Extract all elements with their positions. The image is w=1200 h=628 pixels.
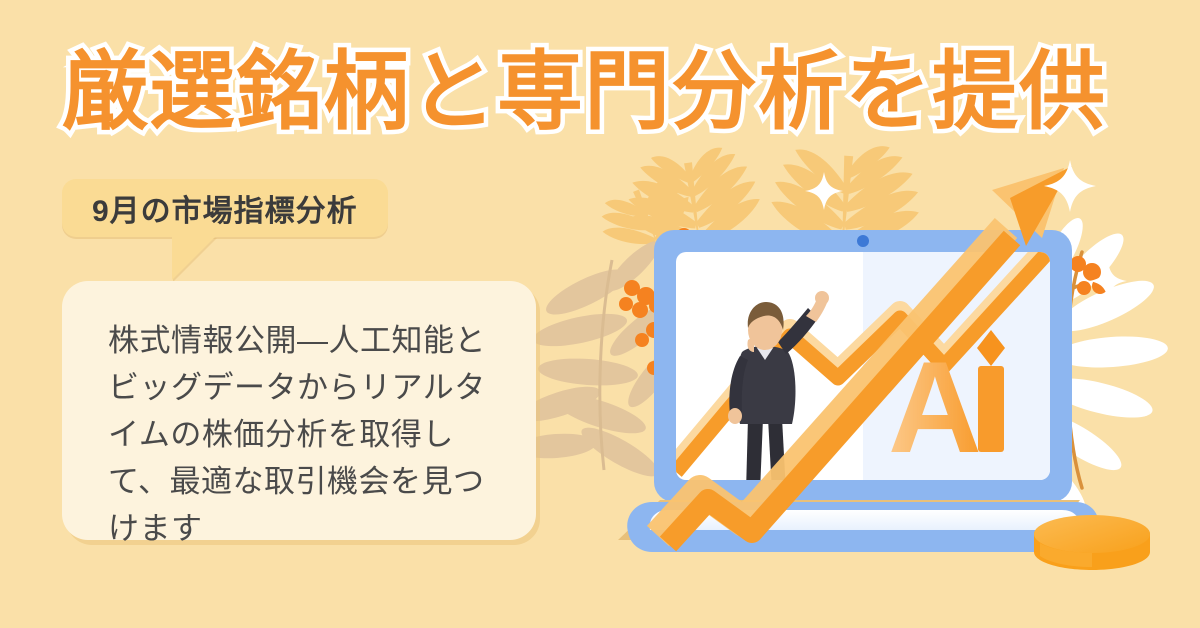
page-title: 厳選銘柄と専門分析を提供 (62, 47, 1152, 137)
gold-coin (1034, 515, 1150, 570)
description-text: 株式情報公開—人工知能とビッグデータからリアルタイムの株価分析を取得して、最適な… (108, 317, 500, 553)
description-bubble: 株式情報公開—人工知能とビッグデータからリアルタイムの株価分析を取得して、最適な… (62, 281, 536, 540)
promo-banner: A (0, 0, 1200, 628)
subtitle-badge-label: 9月の市場指標分析 (92, 186, 358, 230)
laptop-camera-dot (857, 235, 869, 247)
badge-tail-pointer (172, 236, 216, 280)
subtitle-badge: 9月の市場指標分析 (62, 179, 388, 237)
